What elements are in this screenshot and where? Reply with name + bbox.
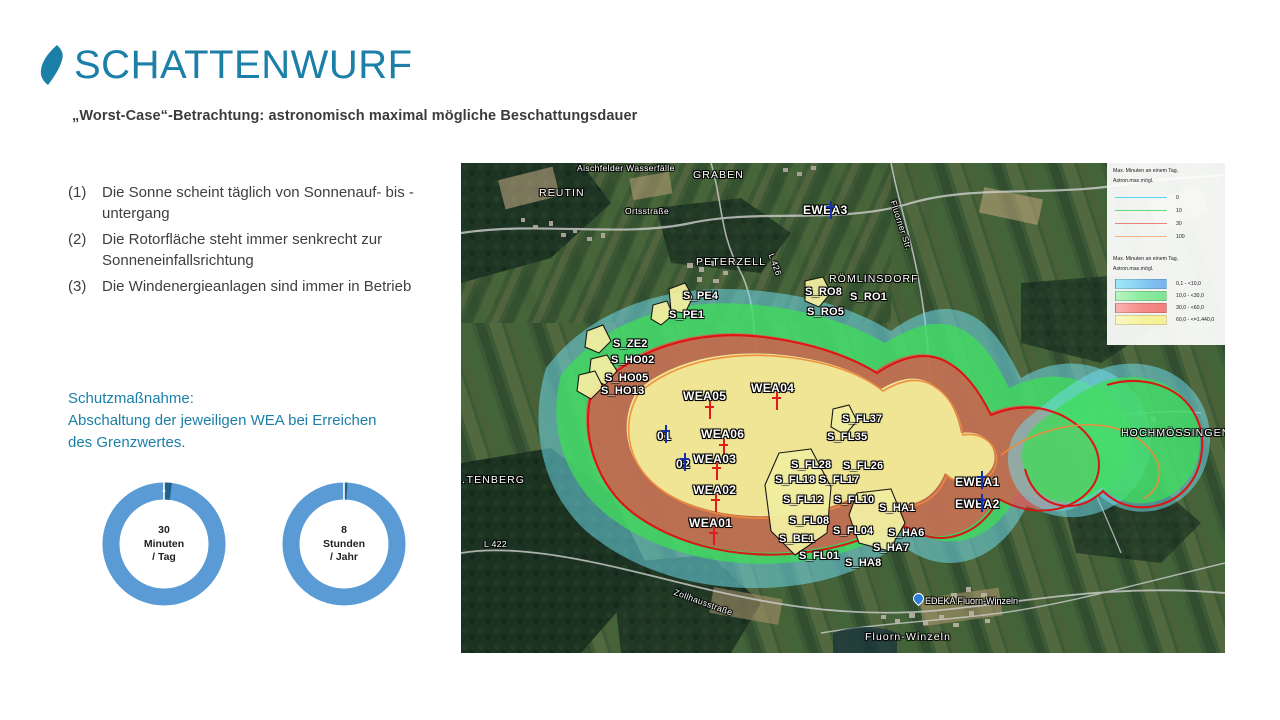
legend-entry-label: 10,0 - <30,0 (1176, 293, 1204, 299)
donut-unit-2: / Jahr (278, 551, 410, 565)
legend-title-2-line2: Astron.max.mögl. (1113, 266, 1219, 273)
legend-swatch-band (1115, 291, 1167, 301)
legend-entry-label: 0 (1176, 195, 1179, 201)
legend-swatch-line (1115, 236, 1167, 238)
legend-entry-label: 30,0 - <60,0 (1176, 305, 1204, 311)
legend-swatch-line (1115, 210, 1167, 212)
legend-entry-label: 10 (1176, 208, 1182, 214)
measure-heading: Schutzmaßnahme: (68, 388, 488, 410)
legend-entry-label: 100 (1176, 234, 1185, 240)
list-item: (1) Die Sonne scheint täglich von Sonnen… (68, 182, 458, 224)
legend-block-2: Max. Minuten an einem Tag, Astron.max.mö… (1113, 256, 1219, 326)
donut-chart-minutes-per-day: 30 Minuten / Tag (98, 478, 230, 610)
assumption-text: Die Sonne scheint täglich von Sonnenauf-… (102, 182, 458, 224)
protective-measure-block: Schutzmaßnahme: Abschaltung der jeweilig… (68, 388, 488, 454)
shadow-flicker-map[interactable]: REUTIN GRABEN Aischfelder Wasserfälle Or… (461, 163, 1225, 653)
donut-unit-2: / Tag (98, 551, 230, 565)
donut-unit-1: Minuten (98, 537, 230, 551)
list-item: (2) Die Rotorfläche steht immer senkrech… (68, 229, 458, 271)
legend-swatch-band (1115, 303, 1167, 313)
legend-entry: 30,0 - <60,0 (1115, 302, 1219, 314)
legend-entry: 100 (1115, 230, 1219, 243)
legend-entry: 0 (1115, 191, 1219, 204)
assumption-text: Die Rotorfläche steht immer senkrecht zu… (102, 229, 458, 271)
legend-entry-label: 60,0 - <=1.440,0 (1176, 317, 1214, 323)
legend-swatch-line (1115, 223, 1167, 225)
donut-value: 8 (278, 524, 410, 538)
assumption-text: Die Windenergieanlagen sind immer in Bet… (102, 276, 411, 297)
legend-isoline-entries: 0 10 30 100 (1115, 191, 1219, 243)
legend-swatch-band (1115, 315, 1167, 325)
legend-entry: 10,0 - <30,0 (1115, 290, 1219, 302)
assumption-number: (1) (68, 182, 102, 224)
legend-title-2-line1: Max. Minuten an einem Tag, (1113, 256, 1219, 263)
donut-value: 30 (98, 524, 230, 538)
legend-title-1-line1: Max. Minuten an einem Tag, (1113, 168, 1219, 175)
map-legend: Max. Minuten an einem Tag, Astron.max.mö… (1107, 163, 1225, 345)
donut-chart-hours-per-year: 8 Stunden / Jahr (278, 478, 410, 610)
assumption-number: (3) (68, 276, 102, 297)
assumption-number: (2) (68, 229, 102, 271)
legend-band-entries: 0,1 - <10,0 10,0 - <30,0 30,0 - <60,0 60… (1115, 278, 1219, 326)
legend-entry: 10 (1115, 204, 1219, 217)
legend-entry-label: 0,1 - <10,0 (1176, 281, 1201, 287)
slide-subtitle: „Worst-Case“-Betrachtung: astronomisch m… (72, 108, 637, 124)
list-item: (3) Die Windenergieanlagen sind immer in… (68, 276, 458, 297)
measure-line-2: des Grenzwertes. (68, 432, 488, 454)
legend-entry: 0,1 - <10,0 (1115, 278, 1219, 290)
donut-label: 8 Stunden / Jahr (278, 524, 410, 565)
slide-header: SCHATTENWURF (38, 44, 413, 88)
page-title: SCHATTENWURF (74, 42, 413, 88)
assumption-list: (1) Die Sonne scheint täglich von Sonnen… (68, 182, 458, 302)
legend-title-1-line2: Astron.max.mögl. (1113, 178, 1219, 185)
legend-entry: 30 (1115, 217, 1219, 230)
brand-diamond-icon (38, 44, 64, 86)
donut-unit-1: Stunden (278, 537, 410, 551)
measure-line-1: Abschaltung der jeweiligen WEA bei Errei… (68, 410, 488, 432)
legend-entry: 60,0 - <=1.440,0 (1115, 314, 1219, 326)
threshold-donuts: 30 Minuten / Tag 8 Stunden / Jahr (98, 478, 410, 610)
legend-swatch-line (1115, 197, 1167, 199)
legend-swatch-band (1115, 279, 1167, 289)
donut-label: 30 Minuten / Tag (98, 524, 230, 565)
legend-entry-label: 30 (1176, 221, 1182, 227)
